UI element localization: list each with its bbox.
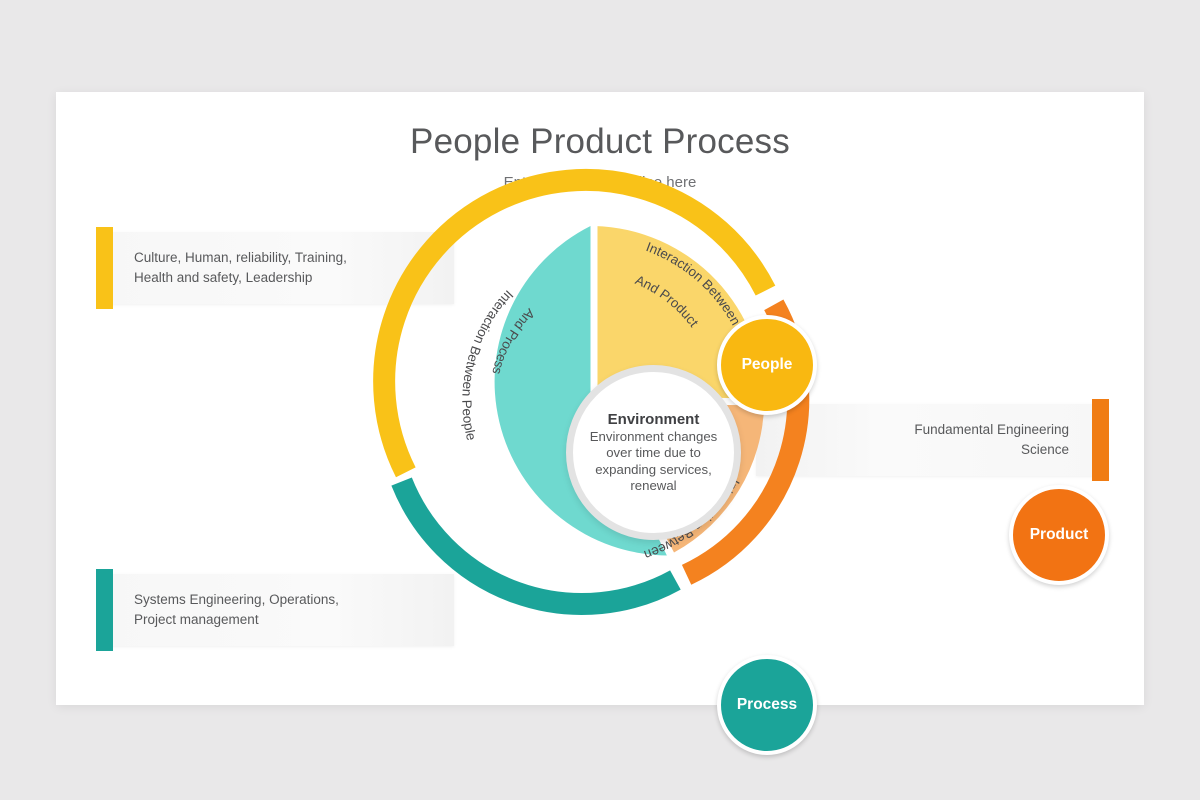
accent-bar-product (1092, 399, 1109, 481)
node-process-label: Process (737, 696, 797, 714)
info-panel-product-text: Fundamental Engineering Science (914, 420, 1069, 459)
center-hub-body: Environment changes over time due to exp… (576, 429, 732, 494)
accent-bar-process (96, 569, 113, 651)
node-product-label: Product (1030, 526, 1089, 544)
cycle-diagram: Interaction Between People And Product I… (344, 150, 844, 650)
node-people-label: People (742, 356, 793, 374)
accent-bar-people (96, 227, 113, 309)
info-panel-people-text: Culture, Human, reliability, Training, H… (134, 248, 347, 287)
node-product[interactable]: Product (1009, 485, 1109, 585)
node-process[interactable]: Process (717, 655, 817, 755)
slide-canvas: People Product Process Enter your sub he… (56, 92, 1144, 705)
node-people[interactable]: People (717, 315, 817, 415)
info-panel-process-text: Systems Engineering, Operations, Project… (134, 590, 339, 629)
center-hub-title: Environment (608, 411, 700, 428)
center-hub: Environment Environment changes over tim… (566, 365, 741, 540)
